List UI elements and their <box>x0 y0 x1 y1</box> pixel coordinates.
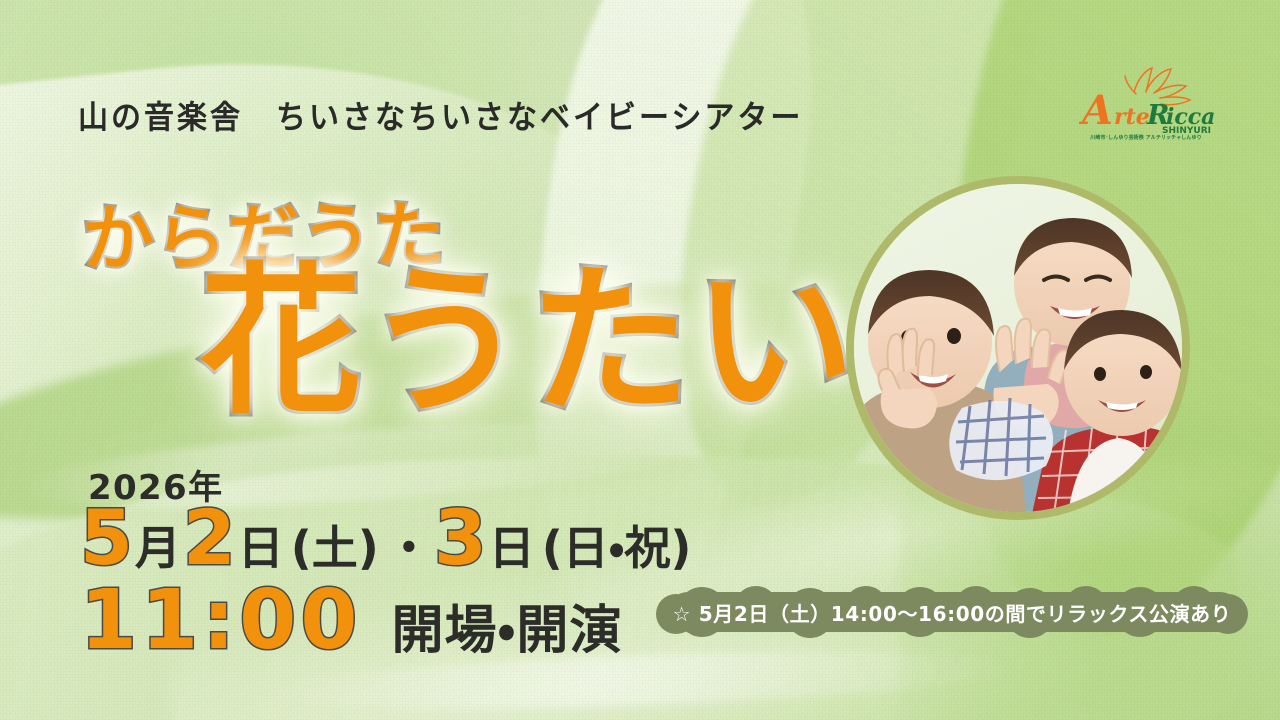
checkered-cushion <box>949 398 1053 480</box>
schedule-day1-number: 2 <box>183 500 236 576</box>
schedule-time-label: 開場・開演 <box>392 605 623 657</box>
schedule-month-number: 5 <box>80 500 133 576</box>
relax-performance-banner: ☆ 5月2日（土）14:00〜16:00の間でリラックス公演あり <box>648 586 1256 638</box>
schedule-day2-kanji: 日 <box>487 525 537 571</box>
svg-text:A: A <box>1078 87 1113 134</box>
schedule-day1-weekday: (土) <box>286 525 384 571</box>
schedule-month-kanji: 月 <box>133 525 183 571</box>
logo-subline: 川崎市･しんゆり芸術祭 アルテリッチャしんゆり <box>1076 134 1216 141</box>
baby-photo <box>854 184 1182 512</box>
event-series-subtitle: 山の音楽舎 ちいさなちいさなベイビーシアター <box>78 91 803 138</box>
schedule-date-line: 5 月 2 日 (土) ・ 3 日 (日・祝) <box>80 500 696 576</box>
relax-performance-text: ☆ 5月2日（土）14:00〜16:00の間でリラックス公演あり <box>648 586 1256 638</box>
baby-photo-illustration <box>854 184 1182 512</box>
photo-circle-ring <box>846 176 1190 520</box>
schedule-day1-kanji: 日 <box>236 525 286 571</box>
schedule-day2-number: 3 <box>434 500 487 576</box>
svg-text:rte: rte <box>1114 104 1150 130</box>
schedule-day2-weekday: (日・祝) <box>537 525 697 571</box>
schedule-time: 11:00 <box>80 580 362 662</box>
schedule-date-separator: ・ <box>384 525 434 571</box>
arte-ricca-logo[interactable]: A rte R icca SHINYURI 川崎市･しんゆり芸術祭 アルテリッチ… <box>1076 62 1216 148</box>
schedule-time-line: 11:00 開場・開演 <box>80 580 622 662</box>
title-hanautai: 花うたい <box>200 262 858 424</box>
poster-canvas: 山の音楽舎 ちいさなちいさなベイビーシアター A rte R icca SHIN… <box>0 0 1280 720</box>
